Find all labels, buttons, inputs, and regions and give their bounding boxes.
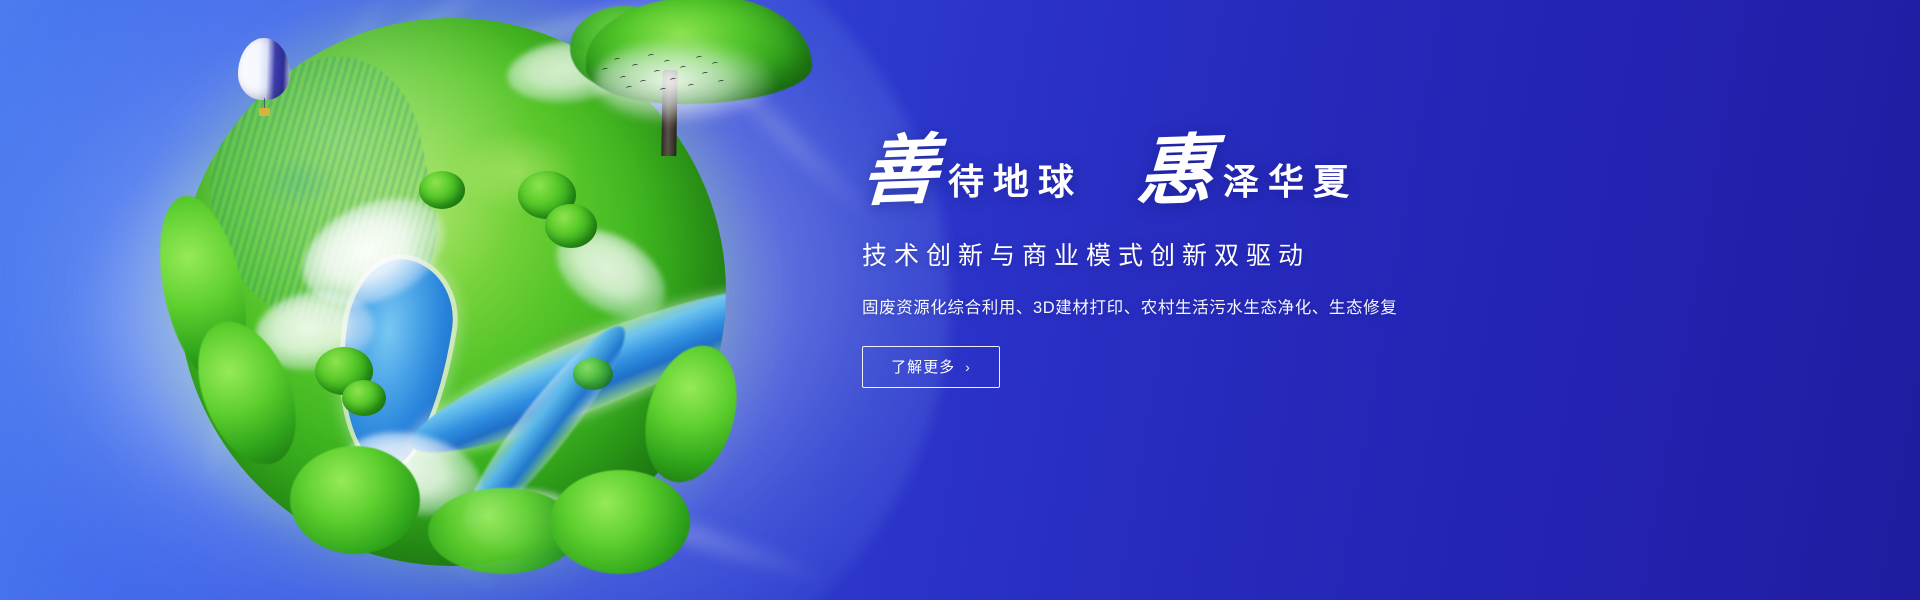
hero-banner: 善 待地球 惠 泽华夏 技术创新与商业模式创新双驱动 固废资源化综合利用、3D建… (0, 0, 1920, 600)
headline-rest-chars-2: 泽华夏 (1223, 164, 1358, 208)
balloon-envelope (238, 38, 290, 100)
headline-lead-char-1: 善 (860, 137, 940, 210)
shrub-icon (342, 380, 386, 416)
hot-air-balloon-icon (238, 38, 290, 120)
learn-more-label: 了解更多 (891, 356, 955, 377)
rim-tree-icon (550, 470, 690, 574)
headline-rest-chars-1: 待地球 (948, 164, 1083, 208)
headline-lead-char-2: 惠 (1135, 137, 1215, 210)
shrub-icon (573, 358, 613, 390)
learn-more-button[interactable]: 了解更多 › (862, 346, 1000, 388)
rim-tree-icon (290, 446, 420, 554)
balloon-basket (259, 108, 270, 116)
chevron-right-icon: › (965, 360, 971, 374)
headline: 善 待地球 惠 泽华夏 (862, 138, 1502, 208)
bird-flock-icon (598, 50, 728, 94)
subtitle: 技术创新与商业模式创新双驱动 (862, 236, 1502, 272)
banner-content: 善 待地球 惠 泽华夏 技术创新与商业模式创新双驱动 固废资源化综合利用、3D建… (862, 138, 1502, 388)
description: 固废资源化综合利用、3D建材打印、农村生活污水生态净化、生态修复 (862, 294, 1502, 318)
